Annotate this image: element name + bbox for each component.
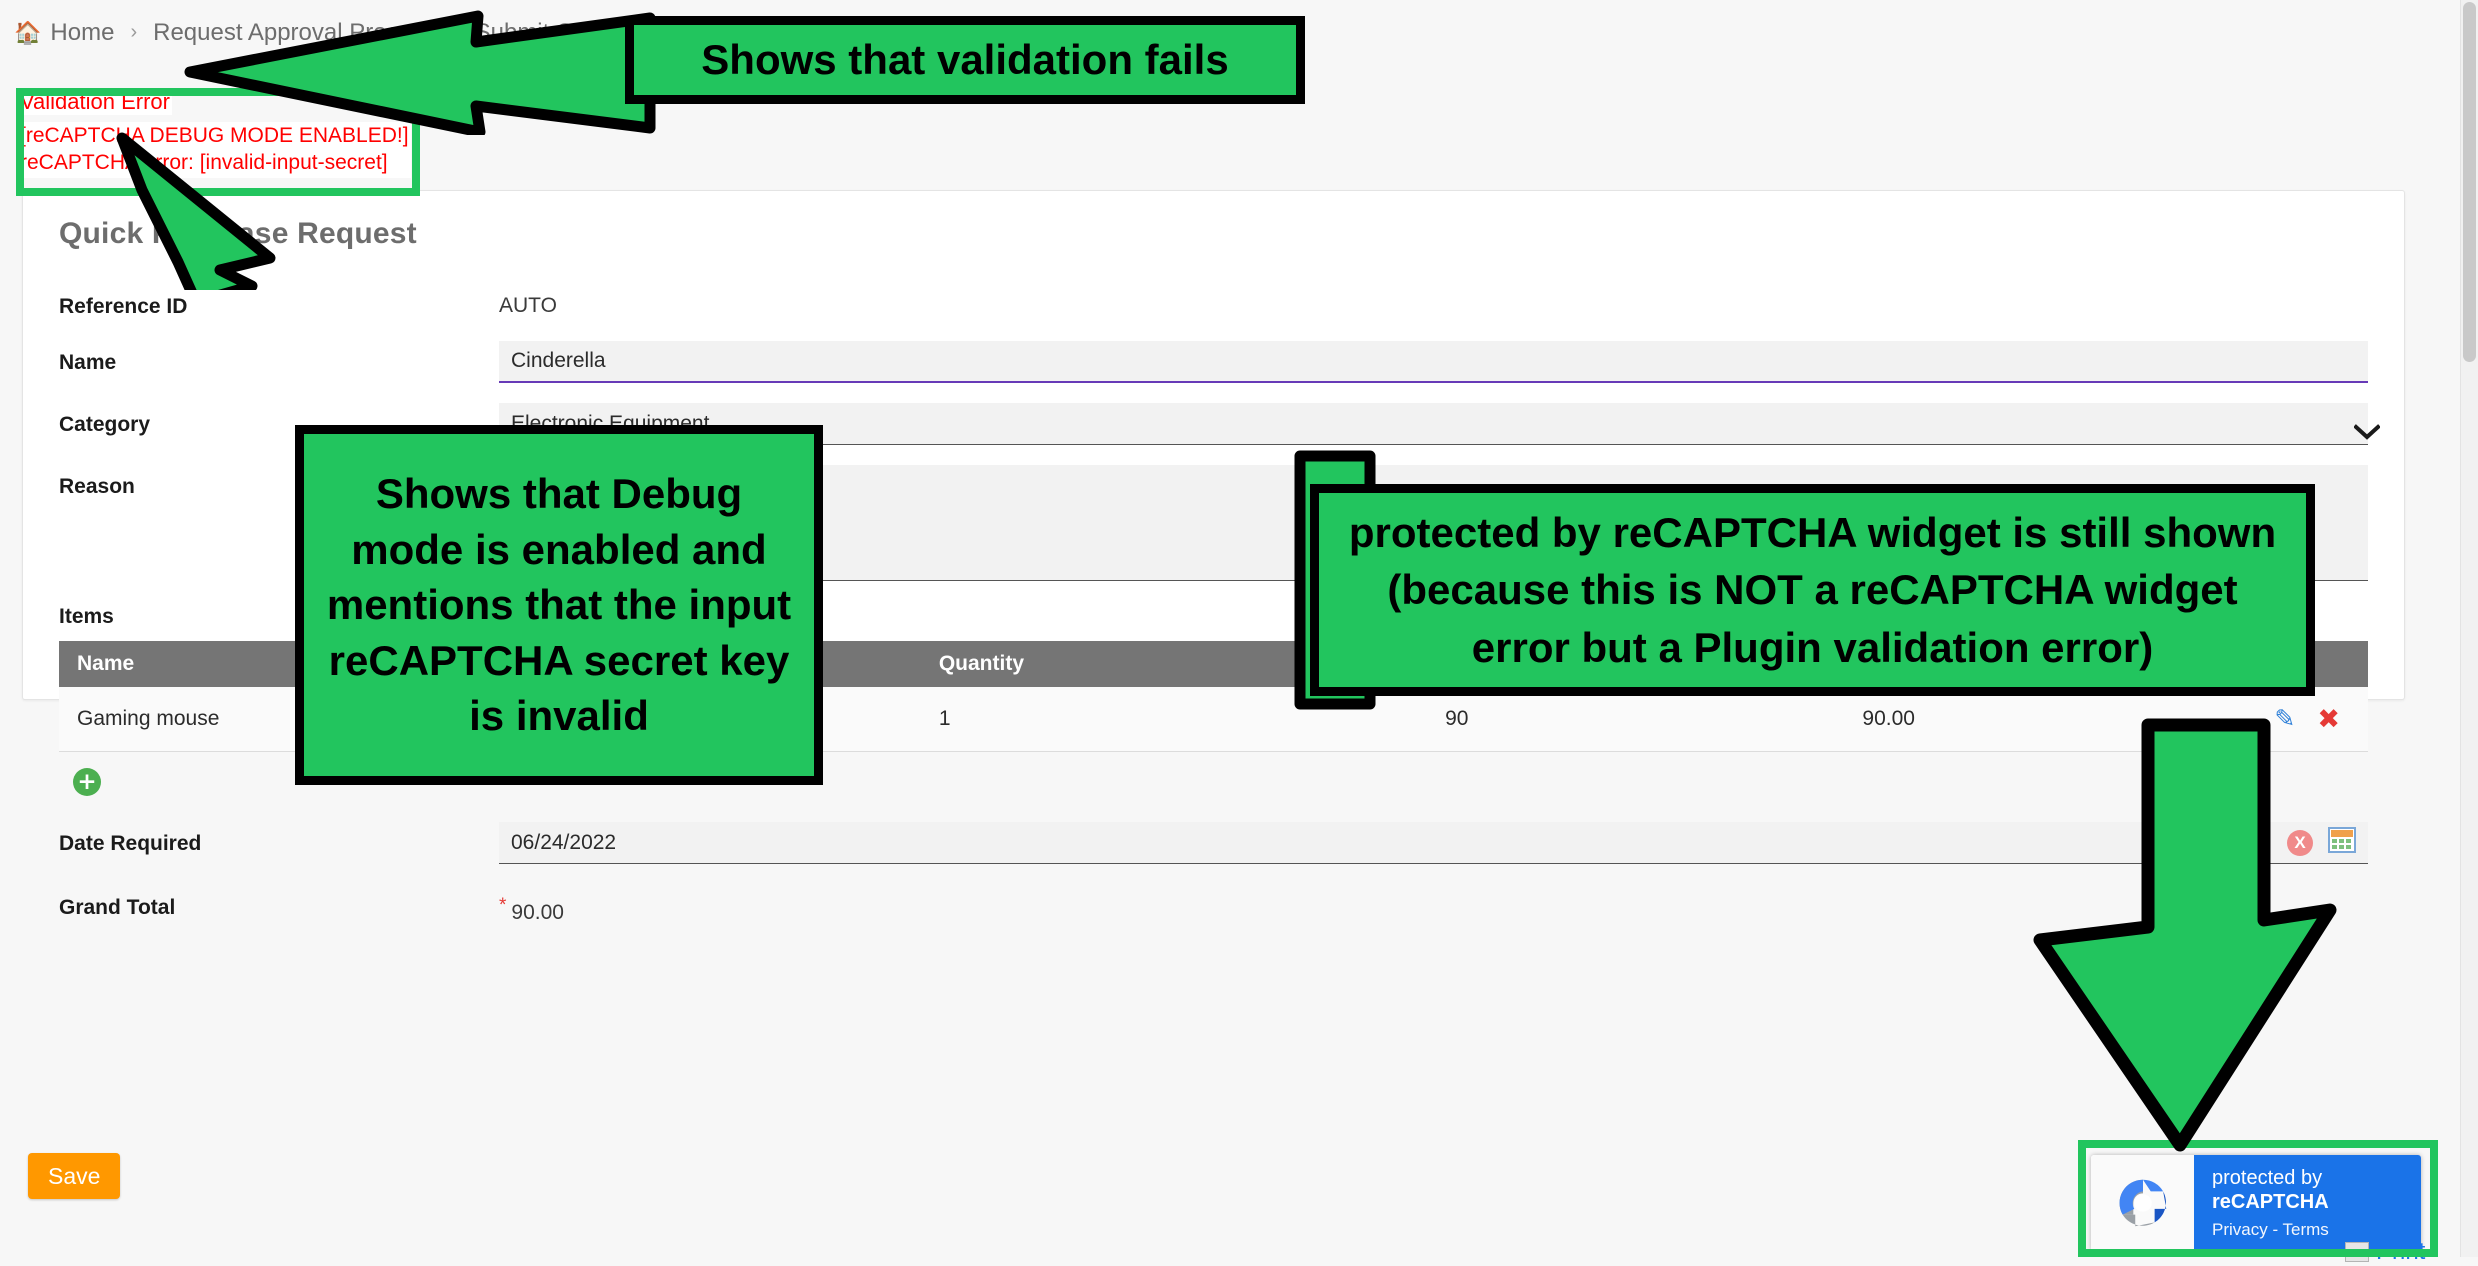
edit-icon[interactable]: ✎ — [2274, 707, 2295, 732]
breadcrumb-separator: › — [130, 21, 137, 44]
label-date-required: Date Required — [59, 822, 499, 856]
cell-item-actions: ✎ ✖ — [2173, 687, 2368, 752]
annotation-highlight-validation — [16, 88, 420, 196]
field-row-name: Name Cinderella — [59, 341, 2368, 383]
home-icon: 🏠 — [14, 22, 41, 44]
breadcrumb-separator: › — [452, 21, 459, 44]
breadcrumb-item-home[interactable]: Home — [50, 19, 114, 47]
scrollbar[interactable] — [2460, 0, 2478, 1257]
date-required-input[interactable]: 06/24/2022 X — [499, 822, 2368, 864]
save-button[interactable]: Save — [28, 1153, 120, 1199]
name-input[interactable]: Cinderella — [499, 341, 2368, 383]
cell-item-quantity: 1 — [921, 687, 1427, 752]
delete-icon[interactable]: ✖ — [2317, 706, 2340, 733]
scrollbar-thumb[interactable] — [2463, 2, 2476, 362]
annotation-label-validation-fails: Shows that validation fails — [625, 16, 1305, 104]
clear-date-icon[interactable]: X — [2287, 830, 2313, 856]
add-item-button[interactable]: + — [73, 768, 101, 796]
cell-item-total: 90.00 — [1844, 687, 2172, 752]
cell-item-price: 90 — [1427, 687, 1844, 752]
field-row-date-required: Date Required 06/24/2022 X — [59, 822, 2368, 864]
value-reference-id: AUTO — [499, 285, 2368, 318]
label-name: Name — [59, 341, 499, 375]
date-required-value: 06/24/2022 — [511, 831, 616, 855]
field-row-reference-id: Reference ID AUTO — [59, 285, 2368, 319]
breadcrumb-item-request-approval-process[interactable]: Request Approval Process — [153, 19, 436, 47]
label-grand-total: Grand Total — [59, 886, 499, 920]
value-grand-total: *90.00 — [499, 886, 2368, 925]
required-asterisk: * — [499, 895, 506, 916]
calendar-icon[interactable] — [2328, 827, 2356, 859]
grand-total-amount: 90.00 — [511, 901, 564, 924]
field-row-grand-total: Grand Total *90.00 — [59, 886, 2368, 925]
page-title: Quick Purchase Request — [59, 217, 2368, 251]
annotation-highlight-recaptcha — [2078, 1140, 2438, 1257]
label-reference-id: Reference ID — [59, 285, 499, 319]
annotation-label-recaptcha-widget: protected by reCAPTCHA widget is still s… — [1310, 484, 2315, 696]
annotation-label-debug-mode: Shows that Debug mode is enabled and men… — [295, 425, 823, 785]
